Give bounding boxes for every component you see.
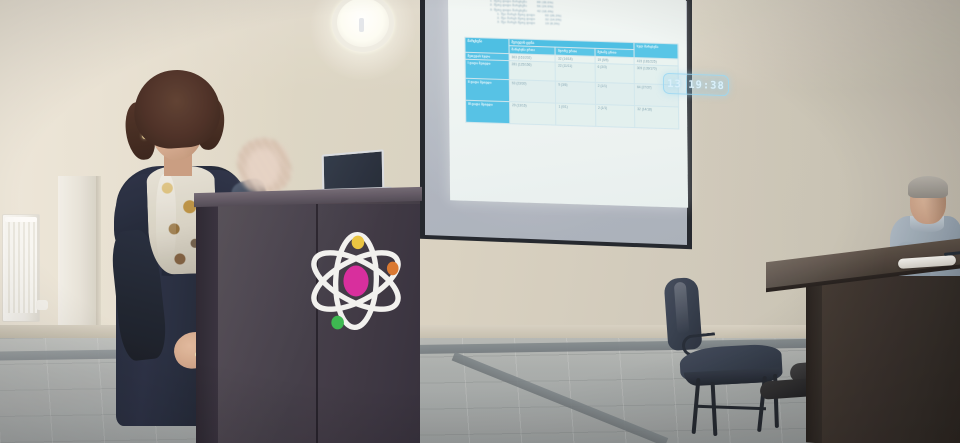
podium-left-panel — [196, 200, 220, 443]
slide-bullet-list: შენიშვნა: 1. მეთე დიდი მარცხენა 88 (38,6… — [490, 0, 680, 30]
table-cell: 53 (23/30) — [509, 80, 556, 103]
atom-electron-orange — [387, 262, 399, 276]
table-cell: 22 (11/11) — [556, 62, 596, 82]
osd-clock: 13 19:38 — [663, 73, 729, 97]
table-cell: 2 (1/1) — [595, 82, 635, 105]
radiator-cap — [5, 217, 37, 222]
table-cell: 9 (3/6) — [556, 81, 596, 104]
atom-nucleus — [343, 266, 368, 297]
slide-data-table: მარცხენა მეთედის ცდნა სულ მარცხენა მარცხ… — [464, 37, 679, 130]
radiator-valve — [36, 300, 48, 310]
presentation-scene: შენიშვნა: 1. მეთე დიდი მარცხენა 88 (38,6… — [0, 0, 960, 443]
table-cell: 6 (3/3) — [595, 63, 635, 83]
empty-chair — [660, 278, 786, 436]
chair-backrest-highlight — [674, 282, 690, 335]
bullet-text: 3. შუა მარცხ მეთე დიდი — [497, 20, 535, 25]
table-cell: 1 (0/1) — [556, 103, 596, 126]
attendee-shoe — [759, 378, 812, 400]
speaker-gesturing-hand-core — [246, 148, 280, 188]
atom-logo-svg — [298, 222, 414, 340]
chair-leg — [711, 382, 718, 436]
table-cell: 32 (14/18) — [635, 106, 679, 129]
chair-leg-brace — [696, 405, 766, 410]
row-label: III დიდი მეთედი — [466, 100, 510, 123]
row-label: I დიდი მეთედი — [465, 59, 509, 79]
radiator-fins — [5, 221, 37, 313]
attendee-hair — [908, 176, 948, 198]
osd-clock-divider — [686, 76, 687, 95]
conference-table-body — [822, 276, 960, 443]
header-col-group: მარცხენა — [465, 37, 509, 53]
projected-slide: შენიშვნა: 1. მეთე დიდი მარცხენა 88 (38,6… — [448, 0, 688, 208]
wall-radiator — [2, 214, 40, 322]
atom-electron-green — [331, 316, 344, 330]
osd-clock-date: 13 — [667, 77, 682, 90]
lamp-filament — [359, 18, 364, 32]
atom-electron-yellow — [352, 236, 365, 250]
atom-logo — [298, 222, 414, 340]
row-label: II დიდი მეთედი — [465, 78, 509, 101]
table-cell: 2 (1/1) — [595, 104, 635, 127]
table-cell: 281 (125/156) — [509, 61, 556, 81]
speaker-hair — [131, 67, 222, 151]
wall-lamp — [332, 0, 394, 60]
wall-pillar — [58, 176, 98, 344]
osd-clock-time: 19:38 — [688, 78, 725, 91]
header-col-group: სულ მარცხენა — [634, 43, 678, 59]
bullet-value: 19 (8,3%) — [545, 21, 560, 26]
speaker-scarf-fold — [156, 174, 176, 266]
wall-pillar-edge — [96, 176, 101, 344]
table-cell: 29 (13/16) — [510, 102, 557, 125]
